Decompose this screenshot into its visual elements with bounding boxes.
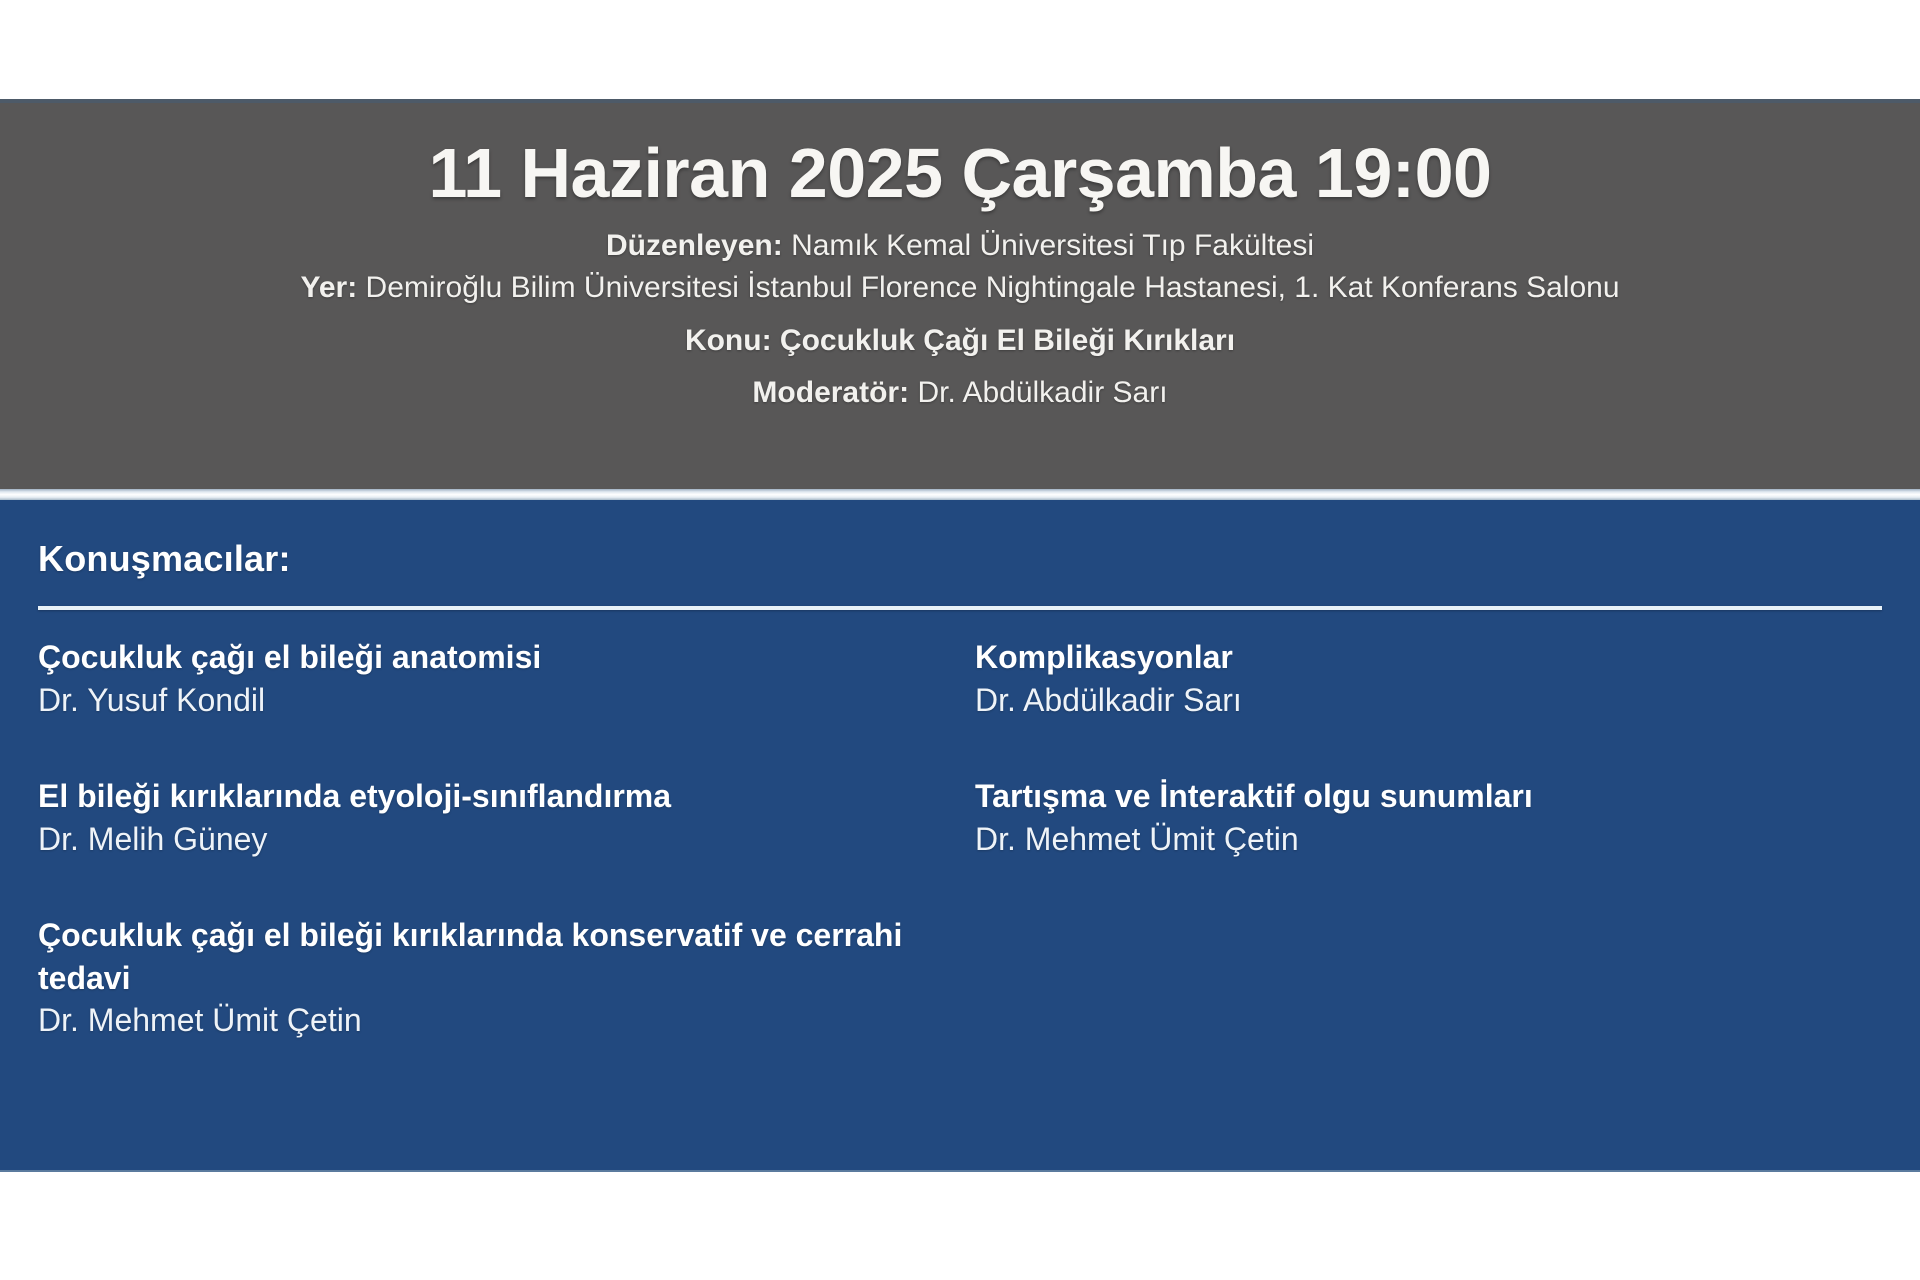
organizer-line: Düzenleyen: Namık Kemal Üniversitesi Tıp…	[0, 211, 1920, 268]
talk-title: Komplikasyonlar	[975, 636, 1875, 679]
talk-speaker: Dr. Melih Güney	[38, 818, 935, 861]
venue-line: Yer: Demiroğlu Bilim Üniversitesi İstanb…	[0, 267, 1920, 310]
speakers-column-left: Çocukluk çağı el bileği anatomisi Dr. Yu…	[38, 636, 975, 1042]
organizer-value: Namık Kemal Üniversitesi Tıp Fakültesi	[791, 229, 1314, 262]
list-item: Çocukluk çağı el bileği anatomisi Dr. Yu…	[38, 636, 935, 721]
talk-speaker: Dr. Mehmet Ümit Çetin	[975, 818, 1882, 861]
talk-speaker: Dr. Mehmet Ümit Çetin	[38, 999, 935, 1042]
bottom-whitespace	[0, 1172, 1920, 1280]
list-item: Çocukluk çağı el bileği kırıklarında kon…	[38, 914, 935, 1042]
event-announcement-poster: 11 Haziran 2025 Çarşamba 19:00 Düzenleye…	[0, 0, 1920, 1280]
topic-value: Çocukluk Çağı El Bileği Kırıkları	[780, 324, 1235, 357]
moderator-line: Moderatör: Dr. Abdülkadir Sarı	[0, 362, 1920, 415]
speakers-column-right: Komplikasyonlar Dr. Abdülkadir Sarı Tart…	[975, 636, 1882, 860]
speakers-heading: Konuşmacılar:	[38, 500, 1882, 580]
talk-speaker: Dr. Abdülkadir Sarı	[975, 679, 1882, 722]
talk-speaker: Dr. Yusuf Kondil	[38, 679, 935, 722]
venue-value: Demiroğlu Bilim Üniversitesi İstanbul Fl…	[366, 271, 1620, 304]
section-separator	[0, 489, 1920, 500]
topic-line: Konu: Çocukluk Çağı El Bileği Kırıkları	[0, 310, 1920, 363]
venue-label: Yer:	[300, 271, 357, 304]
talk-title: Çocukluk çağı el bileği anatomisi	[38, 636, 935, 679]
program-panel: Konuşmacılar: Çocukluk çağı el bileği an…	[0, 500, 1920, 1172]
talk-title: Çocukluk çağı el bileği kırıklarında kon…	[38, 914, 935, 999]
list-item: Tartışma ve İnteraktif olgu sunumları Dr…	[975, 775, 1882, 860]
speakers-columns: Çocukluk çağı el bileği anatomisi Dr. Yu…	[38, 610, 1882, 1042]
list-item: El bileği kırıklarında etyoloji-sınıflan…	[38, 775, 935, 860]
top-whitespace	[0, 0, 1920, 99]
list-item: Komplikasyonlar Dr. Abdülkadir Sarı	[975, 636, 1882, 721]
moderator-value: Dr. Abdülkadir Sarı	[917, 376, 1167, 409]
organizer-label: Düzenleyen:	[606, 229, 783, 262]
talk-title: El bileği kırıklarında etyoloji-sınıflan…	[38, 775, 935, 818]
talk-title: Tartışma ve İnteraktif olgu sunumları	[975, 775, 1875, 818]
moderator-label: Moderatör:	[752, 376, 909, 409]
header-band: 11 Haziran 2025 Çarşamba 19:00 Düzenleye…	[0, 99, 1920, 489]
topic-label: Konu:	[685, 324, 772, 357]
event-date-title: 11 Haziran 2025 Çarşamba 19:00	[0, 103, 1920, 211]
